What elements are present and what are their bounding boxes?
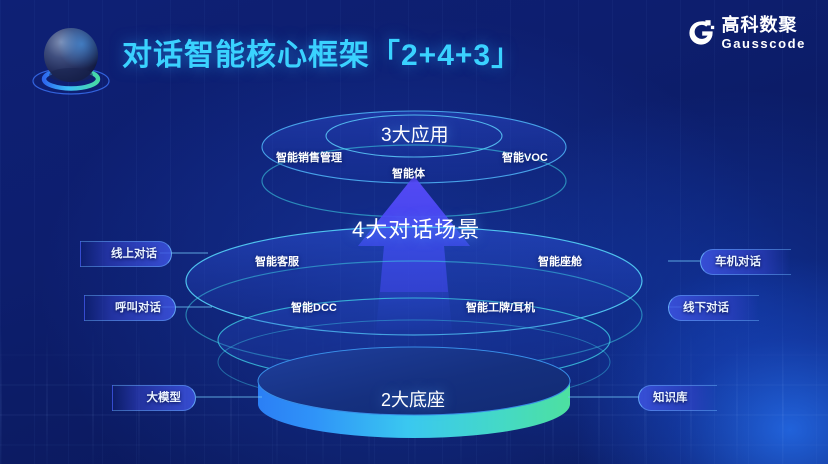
application-item-sales: 智能销售管理: [276, 149, 342, 165]
side-label-online-dialog[interactable]: 线上对话: [80, 241, 172, 267]
tier-foundation-title: 2大底座: [381, 386, 445, 412]
scenario-item-badge-headset: 智能工牌/耳机: [466, 299, 535, 315]
side-label-invehicle-dialog[interactable]: 车机对话: [700, 249, 791, 275]
framework-diagram: 3大应用 4大对话场景 2大底座 智能销售管理 智能VOC 智能体 智能客服 智…: [0, 0, 828, 464]
connector-label-agent: 智能体: [392, 165, 425, 181]
scenario-item-customer-service: 智能客服: [255, 253, 299, 269]
foundation-item-knowledge-base[interactable]: 知识库: [638, 385, 717, 411]
tier-scenarios-title: 4大对话场景: [352, 212, 480, 244]
slide-canvas: 对话智能核心框架「2+4+3」 高科数聚 Gausscode: [0, 0, 828, 464]
scenario-item-cockpit: 智能座舱: [538, 253, 582, 269]
scenario-item-dcc: 智能DCC: [291, 299, 337, 315]
foundation-item-large-model[interactable]: 大模型: [112, 385, 196, 411]
side-label-call-dialog[interactable]: 呼叫对话: [84, 295, 176, 321]
side-label-offline-dialog[interactable]: 线下对话: [668, 295, 759, 321]
tier-applications-title: 3大应用: [381, 120, 449, 147]
application-item-voc: 智能VOC: [502, 149, 548, 165]
